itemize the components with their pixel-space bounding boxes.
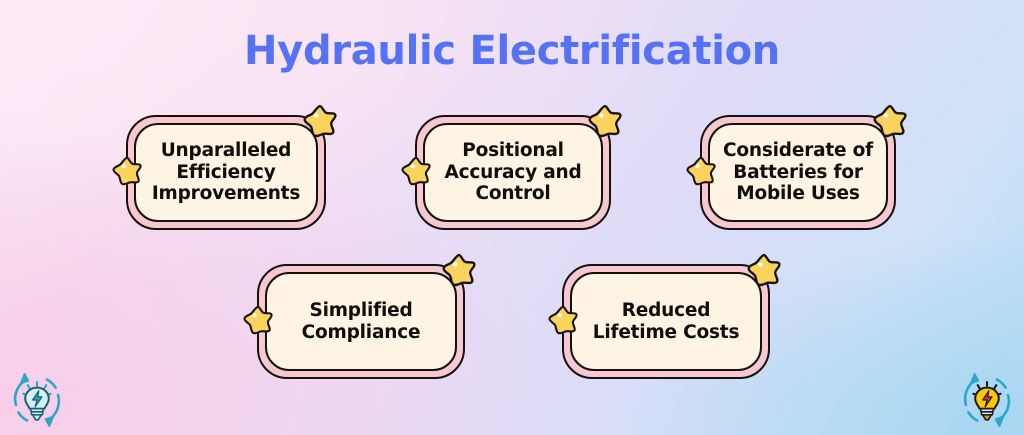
feature-card-label: Simplified Compliance [302, 300, 421, 343]
feature-card-inner: Positional Accuracy and Control [423, 123, 603, 222]
recycle-lightbulb-energy-icon [956, 369, 1018, 431]
feature-card-label: Considerate of Batteries for Mobile Uses [723, 140, 873, 205]
recycle-lightbulb-energy-icon [6, 369, 68, 431]
feature-card-label: Unparalleled Efficiency Improvements [152, 140, 300, 205]
feature-card-simplified-compliance[interactable]: Simplified Compliance [257, 264, 465, 379]
feature-card-unparalleled-efficiency-improvements[interactable]: Unparalleled Efficiency Improvements [126, 115, 326, 230]
feature-card-inner: Considerate of Batteries for Mobile Uses [708, 123, 888, 222]
feature-card-inner: Reduced Lifetime Costs [570, 272, 762, 371]
feature-card-considerate-of-batteries-for-mobile-uses[interactable]: Considerate of Batteries for Mobile Uses [700, 115, 896, 230]
page-title: Hydraulic Electrification [0, 28, 1024, 74]
feature-card-inner: Simplified Compliance [265, 272, 457, 371]
slide-canvas: Hydraulic Electrification Unparalleled E… [0, 0, 1024, 435]
feature-card-label: Reduced Lifetime Costs [593, 300, 740, 343]
feature-card-label: Positional Accuracy and Control [445, 140, 582, 205]
feature-card-reduced-lifetime-costs[interactable]: Reduced Lifetime Costs [562, 264, 770, 379]
feature-card-inner: Unparalleled Efficiency Improvements [134, 123, 318, 222]
feature-card-positional-accuracy-and-control[interactable]: Positional Accuracy and Control [415, 115, 611, 230]
